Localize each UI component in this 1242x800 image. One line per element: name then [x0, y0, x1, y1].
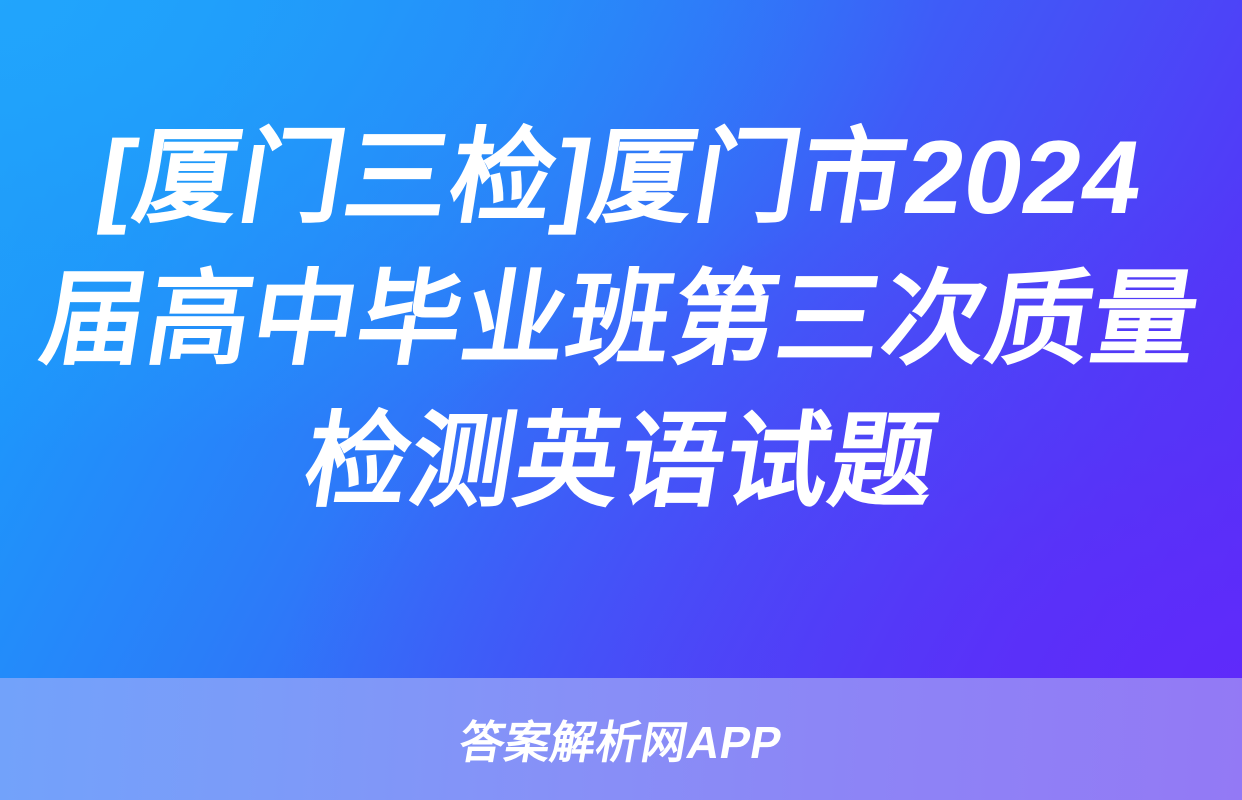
title-line-3: 检测英语试题	[295, 391, 948, 533]
watermark-band: 答案解析网APP	[0, 678, 1242, 800]
title-line-1: [厦门三检]厦门市2024	[89, 107, 1153, 249]
title-line-2: 届高中毕业班第三次质量	[32, 249, 1210, 391]
exam-title-block: [厦门三检]厦门市2024 届高中毕业班第三次质量 检测英语试题	[0, 0, 1242, 678]
app-watermark-text: 答案解析网APP	[456, 720, 785, 765]
exam-title-card: [厦门三检]厦门市2024 届高中毕业班第三次质量 检测英语试题 答案解析网AP…	[0, 0, 1242, 800]
